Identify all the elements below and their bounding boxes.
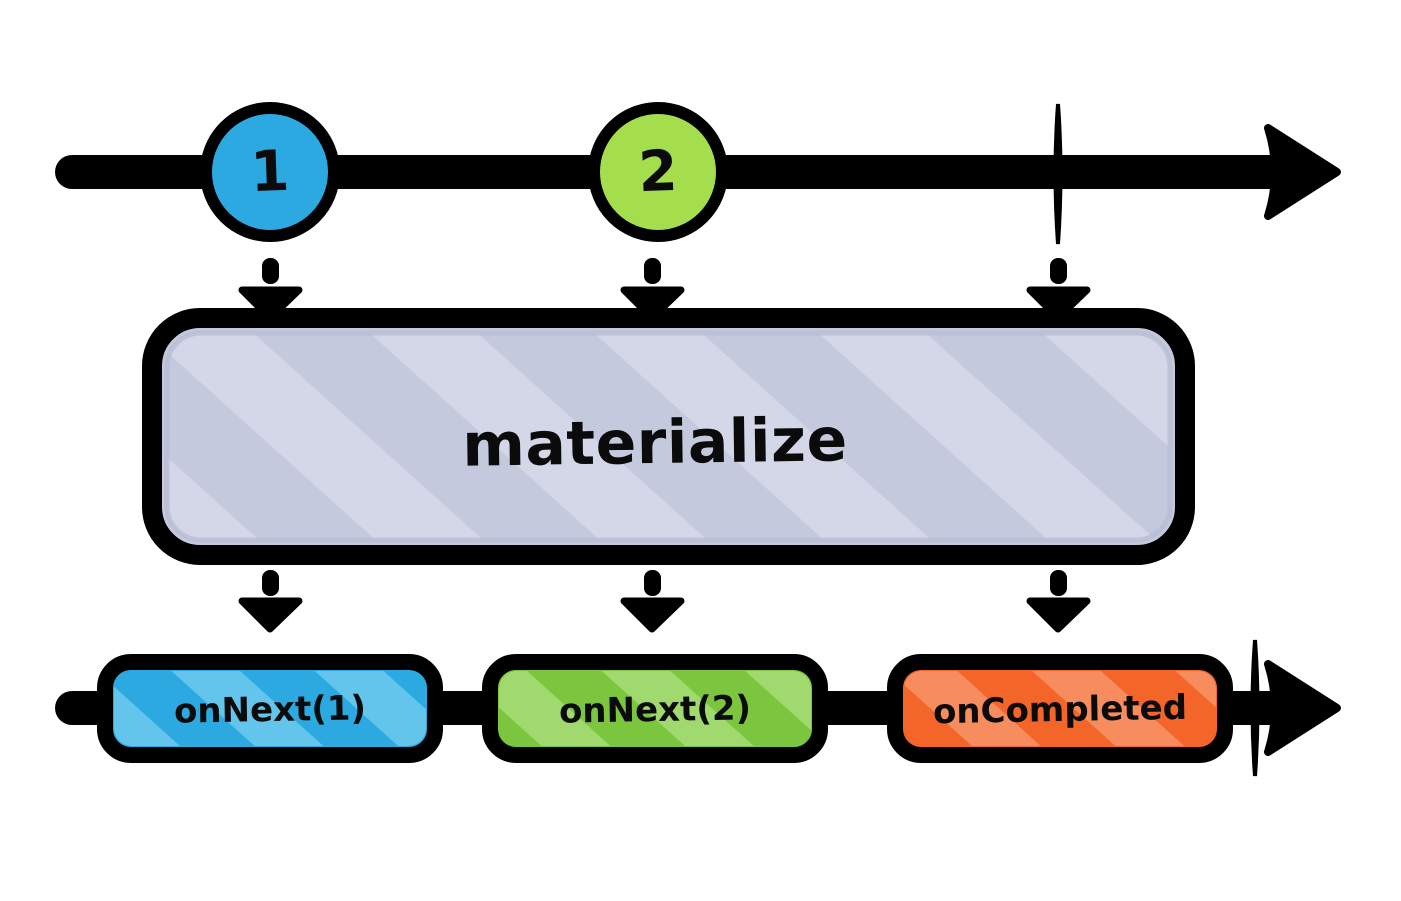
marble-diagram-canvas: 1 2 materialize <box>0 0 1401 901</box>
notification-box-oncompleted[interactable]: onCompleted <box>895 662 1225 755</box>
result-complete-tick <box>1253 640 1258 776</box>
notification-box-3-label: onCompleted <box>933 688 1188 732</box>
emission-arrow-3 <box>1030 570 1087 629</box>
notification-box-2-label: onNext(2) <box>559 688 752 731</box>
source-marble-2[interactable]: 2 <box>594 108 722 236</box>
notification-box-1-label: onNext(1) <box>174 688 367 731</box>
diagram-svg: 1 2 materialize <box>0 0 1401 901</box>
notification-box-onnext-1[interactable]: onNext(1) <box>105 662 435 755</box>
source-timeline-arrowhead <box>1268 128 1337 216</box>
emission-arrow-2 <box>624 570 681 629</box>
operator-box[interactable]: materialize <box>152 318 1185 555</box>
result-timeline-arrowhead <box>1268 664 1337 752</box>
operator-box-label: materialize <box>462 405 848 480</box>
source-marble-1[interactable]: 1 <box>206 108 334 236</box>
emission-arrow-1 <box>242 570 299 629</box>
notification-box-onnext-2[interactable]: onNext(2) <box>490 662 820 755</box>
marble-1-label: 1 <box>249 139 290 205</box>
source-complete-tick <box>1056 104 1061 244</box>
marble-2-label: 2 <box>637 139 678 205</box>
